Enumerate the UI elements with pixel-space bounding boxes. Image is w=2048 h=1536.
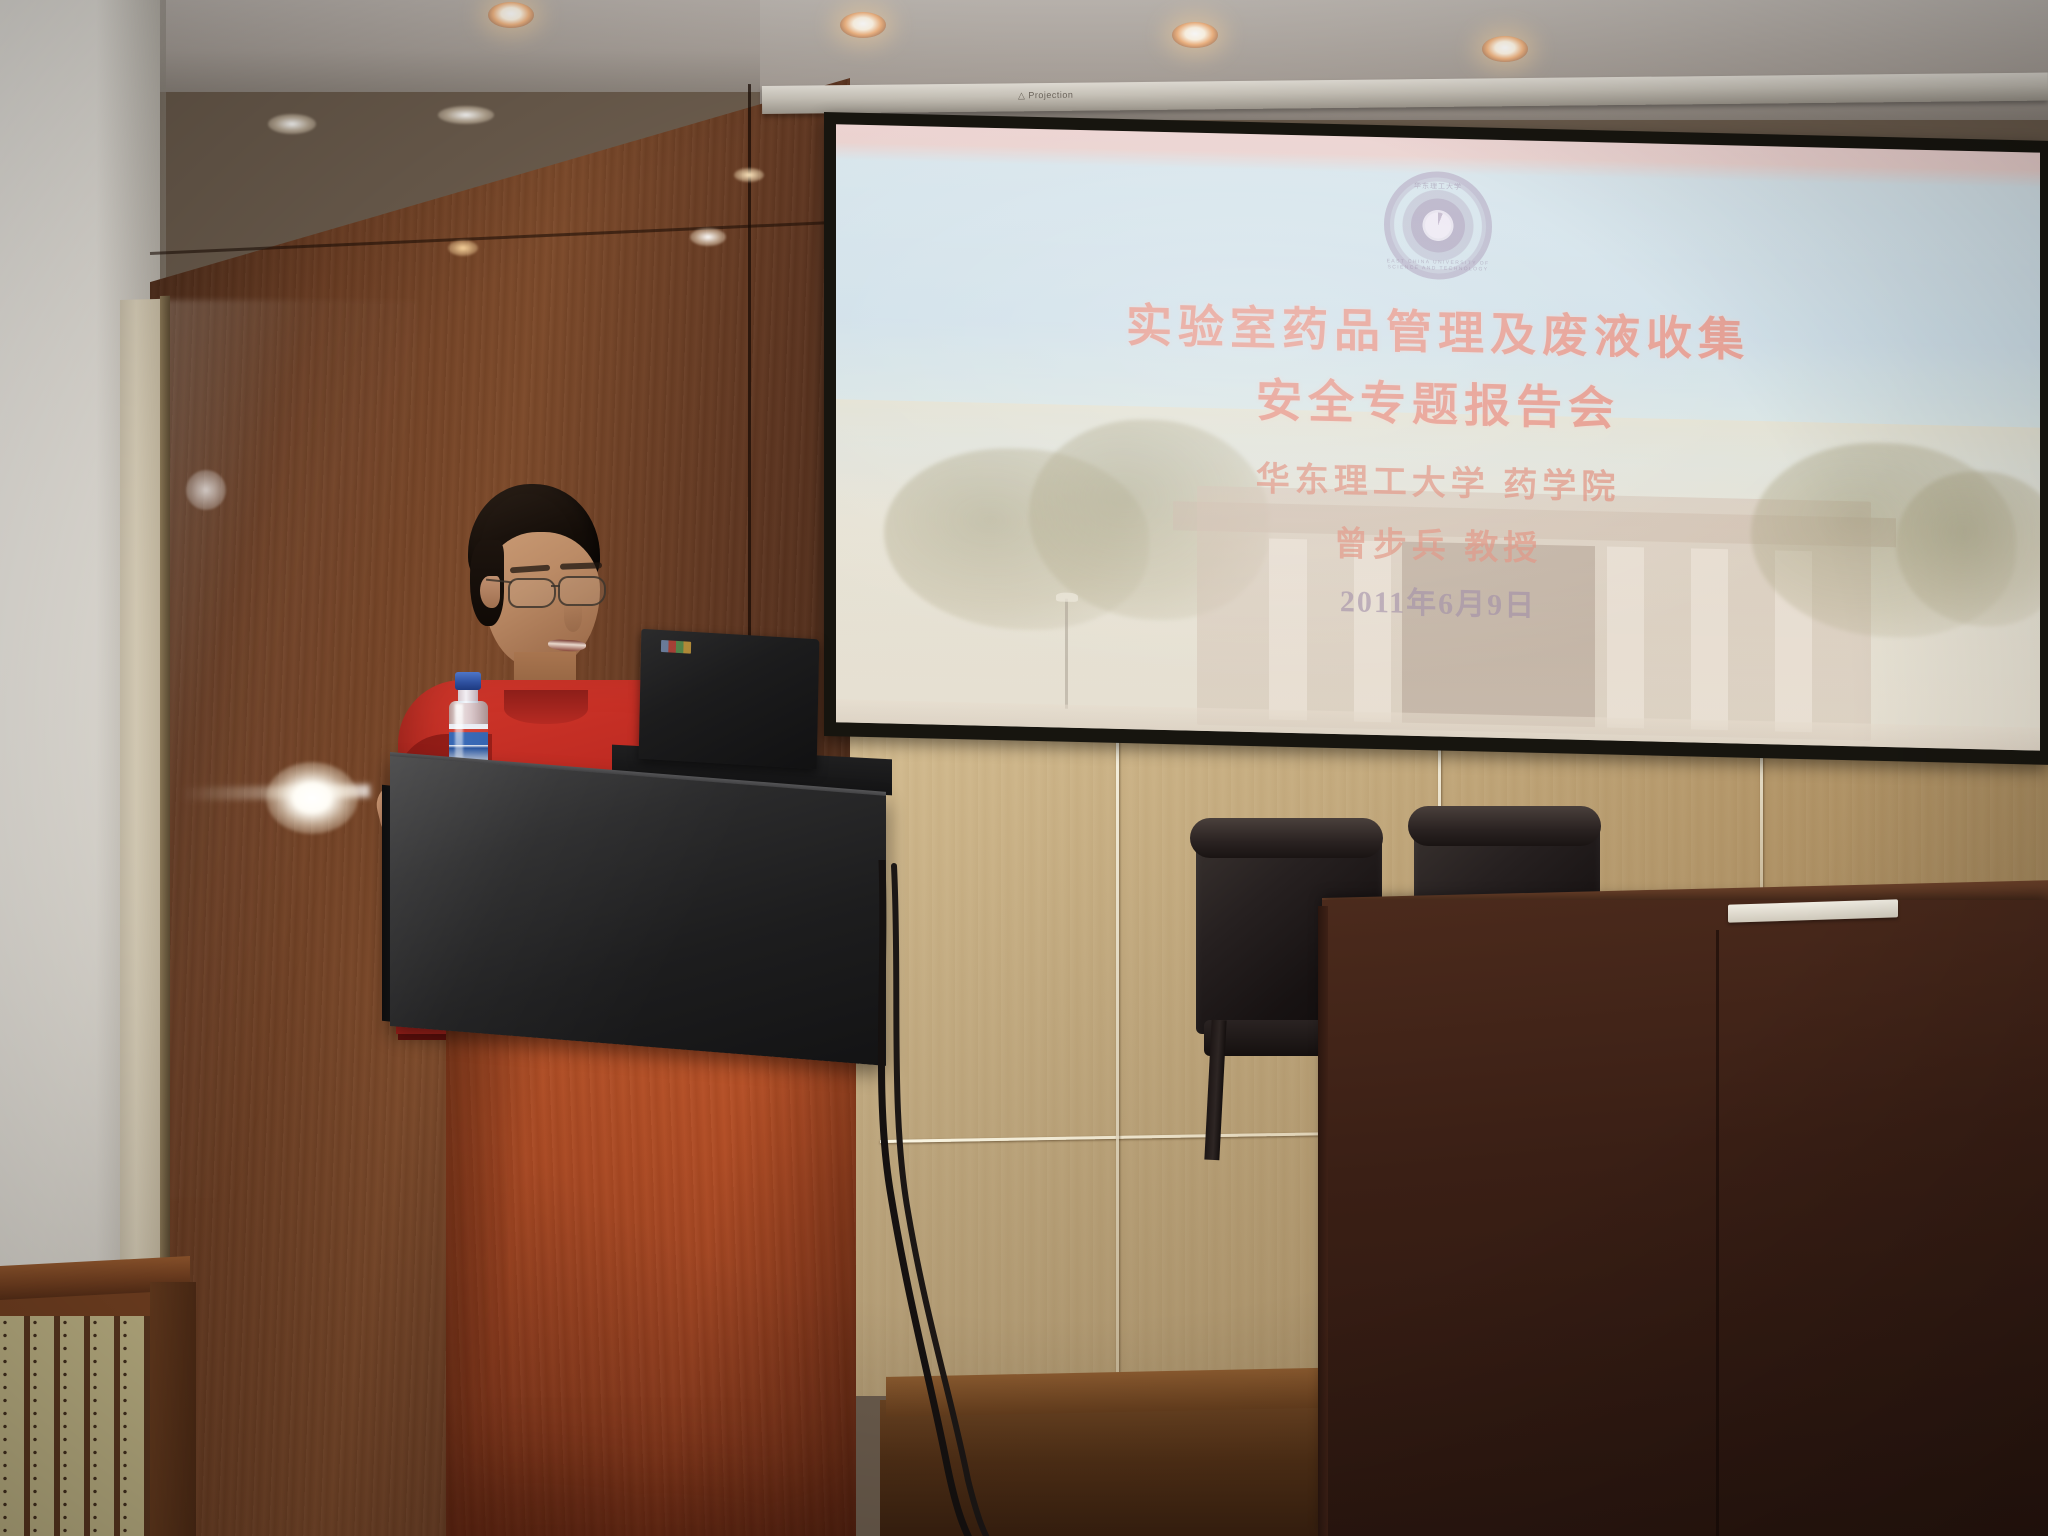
screen-brand-mark: △ Projection [1018,90,1082,103]
wall-reveal-strip-vertical [1116,728,1119,1400]
ceiling-downlight [840,12,886,38]
chair-crest-rail [1190,818,1383,858]
laptop [639,629,820,769]
glasses-icon [508,578,556,608]
wall-specular-highlight [690,228,726,246]
presenter-shirt-collar [504,690,588,724]
wall-lamp-reflection [266,762,358,834]
wall-specular-highlight [268,114,316,134]
wall-specular-highlight [448,240,478,256]
projection-screen-canvas: 华东理工大学 EAST CHINA UNIVERSITY OF SCIENCE … [836,124,2040,750]
slide-text-block: 实验室药品管理及废液收集 安全专题报告会 华东理工大学 药学院 曾步兵 教授 2… [836,124,2040,750]
lectern-front-panel [390,756,886,1066]
glasses-bridge [551,585,560,587]
lectern-gloss [390,756,886,1066]
laptop-brand-logo [661,640,691,654]
wall-specular-highlight [438,106,494,124]
bottle-neck [458,689,478,703]
ceiling-downlight [1482,36,1528,62]
presenter-nose [564,602,582,632]
conference-table-edge [1318,906,1328,1536]
bottle-cap [455,672,481,690]
acoustic-panel-perforations [0,1316,170,1536]
ceiling-downlight [488,2,534,28]
wall-specular-highlight [734,168,764,182]
lectern-base-shading [446,990,856,1536]
floor-cables [860,860,1080,1536]
acoustic-panel-post [150,1282,196,1536]
walnut-gloss-reflection [160,300,420,1200]
conference-table [1322,900,2048,1536]
photo-scene: △ Projection 华东理工大学 [0,0,2048,1536]
conference-table-seam [1716,930,1719,1536]
ceiling-downlight [1172,22,1218,48]
wall-specular-highlight [186,470,226,510]
slide-organization: 华东理工大学 药学院 [836,441,2040,518]
projection-screen-frame: 华东理工大学 EAST CHINA UNIVERSITY OF SCIENCE … [824,112,2048,765]
chair-crest-rail [1408,806,1601,846]
